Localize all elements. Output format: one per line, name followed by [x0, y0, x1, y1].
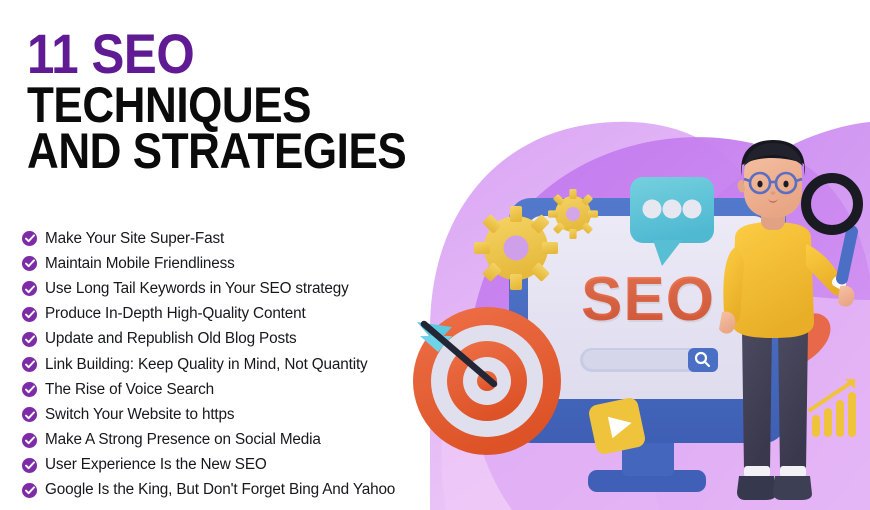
list-item-label: User Experience Is the New SEO [45, 456, 267, 474]
leg-right [778, 330, 808, 470]
bubble-dot [663, 200, 682, 219]
check-circle-icon [22, 332, 37, 347]
list-item-label: Google Is the King, But Don't Forget Bin… [45, 481, 395, 499]
list-item: The Rise of Voice Search [22, 377, 500, 402]
nose [771, 191, 776, 194]
title-line-accent: 11 SEO [27, 28, 432, 80]
text-column: 11 SEO TECHNIQUES AND STRATEGIES Make Yo… [0, 0, 500, 510]
list-item-label: Update and Republish Old Blog Posts [45, 330, 297, 348]
check-circle-icon [22, 231, 37, 246]
list-item: Produce In-Depth High-Quality Content [22, 302, 500, 327]
check-glyph [25, 486, 35, 495]
bubble-dot [683, 200, 702, 219]
list-item: Switch Your Website to https [22, 402, 500, 427]
search-bar [580, 348, 718, 372]
list-item-label: Produce In-Depth High-Quality Content [45, 305, 306, 323]
list-item-label: The Rise of Voice Search [45, 381, 214, 399]
check-circle-icon [22, 307, 37, 322]
sweater [732, 222, 814, 338]
list-item: Make Your Site Super-Fast [22, 226, 500, 251]
sock-right [780, 466, 806, 477]
check-glyph [25, 259, 35, 268]
check-circle-icon [22, 256, 37, 271]
list-item-label: Make Your Site Super-Fast [45, 230, 224, 248]
tips-list: Make Your Site Super-FastMaintain Mobile… [22, 226, 500, 503]
shoe-right [773, 476, 812, 500]
play-button-icon [587, 396, 646, 455]
list-item: User Experience Is the New SEO [22, 453, 500, 478]
monitor-seo-text-shadow: SEO [582, 267, 716, 336]
list-item: Link Building: Keep Quality in Mind, Not… [22, 352, 500, 377]
check-circle-icon [22, 407, 37, 422]
check-glyph [25, 385, 35, 394]
list-item: Update and Republish Old Blog Posts [22, 327, 500, 352]
list-item-label: Maintain Mobile Friendliness [45, 255, 235, 273]
list-item-label: Make A Strong Presence on Social Media [45, 431, 321, 449]
check-circle-icon [22, 357, 37, 372]
list-item: Make A Strong Presence on Social Media [22, 428, 500, 453]
check-glyph [25, 234, 35, 243]
sock-left [744, 466, 770, 477]
bubble-dot [643, 200, 662, 219]
eye-right [783, 181, 788, 188]
check-glyph [25, 335, 35, 344]
check-glyph [25, 461, 35, 470]
check-circle-icon [22, 483, 37, 498]
title-line-three: AND STRATEGIES [27, 128, 432, 174]
check-glyph [25, 310, 35, 319]
check-circle-icon [22, 281, 37, 296]
check-glyph [25, 360, 35, 369]
check-circle-icon [22, 458, 37, 473]
eye-left [757, 181, 762, 188]
infographic-poster: SEO SEO [0, 0, 870, 510]
gear-small-icon [548, 189, 598, 239]
shoe-left [737, 476, 776, 500]
list-item-label: Link Building: Keep Quality in Mind, Not… [45, 356, 368, 374]
check-glyph [25, 411, 35, 420]
check-glyph [25, 285, 35, 294]
check-circle-icon [22, 382, 37, 397]
list-item: Google Is the King, But Don't Forget Bin… [22, 478, 500, 503]
search-button [688, 348, 718, 372]
check-glyph [25, 436, 35, 445]
page-title: 11 SEO TECHNIQUES AND STRATEGIES [27, 28, 487, 174]
list-item: Maintain Mobile Friendliness [22, 251, 500, 276]
list-item: Use Long Tail Keywords in Your SEO strat… [22, 276, 500, 301]
check-circle-icon [22, 433, 37, 448]
leg-left [742, 330, 772, 470]
list-item-label: Use Long Tail Keywords in Your SEO strat… [45, 280, 349, 298]
title-line-two: TECHNIQUES [27, 82, 432, 128]
list-item-label: Switch Your Website to https [45, 406, 234, 424]
